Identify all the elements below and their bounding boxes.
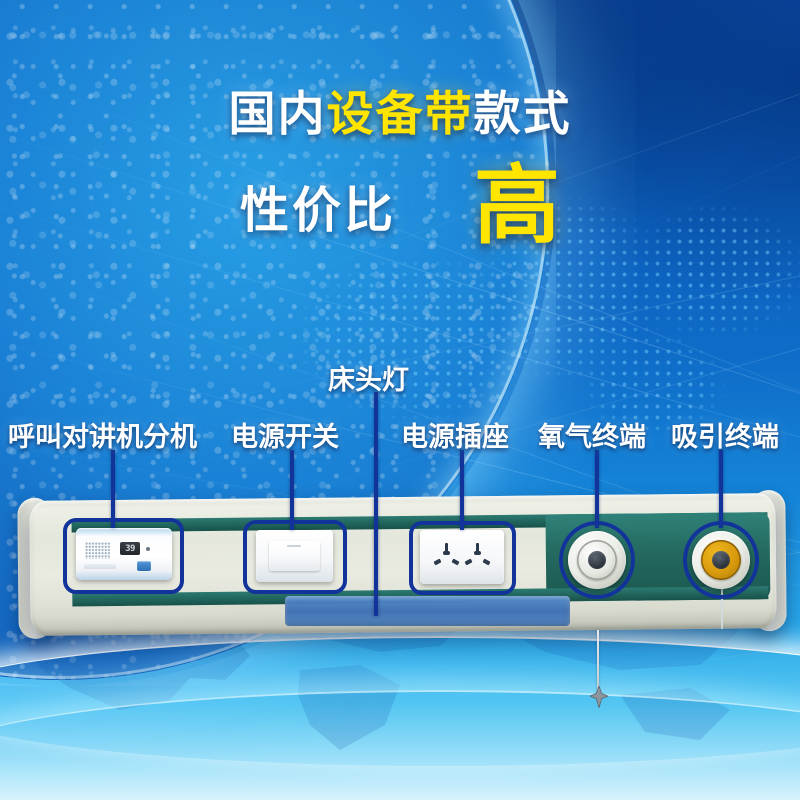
intercom-call-button[interactable]	[137, 561, 151, 571]
suction-terminal-port[interactable]	[692, 531, 750, 589]
promo-banner: 国内设备带款式 性价比 高 床头灯 呼叫对讲机分机 电源开关 电源插座 氧气终端…	[0, 0, 800, 800]
power-switch-plate[interactable]	[256, 530, 333, 582]
headline-block: 国内设备带款式 性价比 高	[0, 88, 800, 140]
glow-swoosh-lower	[0, 690, 800, 800]
callout-label-intercom: 呼叫对讲机分机	[8, 415, 197, 454]
leader-line-oxygen-terminal	[595, 450, 599, 528]
callout-label-power-socket: 电源插座	[401, 415, 509, 454]
rocker-switch[interactable]	[269, 541, 320, 571]
pull-cord-string[interactable]	[597, 630, 599, 692]
callout-label-oxygen-terminal: 氧气终端	[538, 415, 646, 454]
oxygen-core	[588, 551, 606, 569]
callout-label-suction-terminal: 吸引终端	[671, 415, 779, 454]
socket-outlet-right[interactable]	[463, 543, 493, 571]
leader-line-intercom	[111, 450, 115, 528]
headline-seg-style: 款式	[474, 87, 572, 140]
leader-line-bedlamp	[374, 392, 378, 616]
glow-swoosh-upper	[0, 636, 800, 766]
intercom-unit[interactable]: 39	[76, 528, 172, 580]
leader-line-power-socket	[460, 450, 464, 530]
intercom-display: 39	[120, 542, 140, 555]
leader-line-suction-terminal	[719, 450, 723, 528]
leader-line-power-switch	[290, 450, 294, 530]
headline-price-ratio: 性价比	[240, 171, 396, 242]
speaker-grille-icon	[85, 542, 110, 559]
power-socket-plate[interactable]	[420, 530, 504, 584]
socket-outlet-left[interactable]	[432, 543, 462, 571]
headline-line-1: 国内设备带款式	[0, 88, 800, 140]
suction-core	[712, 551, 730, 569]
headline-line-2: 性价比 高	[0, 166, 800, 248]
headline-seg-equipment-belt: 设备带	[327, 87, 474, 140]
callout-label-bedlamp: 床头灯	[328, 358, 409, 397]
headline-seg-domestic: 国内	[229, 87, 327, 140]
bed-lamp-diffuser[interactable]	[285, 596, 570, 626]
intercom-label-strip	[84, 564, 116, 569]
suction-hanging-wire	[721, 585, 723, 629]
oxygen-terminal-port[interactable]	[568, 531, 626, 589]
pull-cord-connector-icon[interactable]	[590, 686, 608, 708]
status-led-icon	[146, 547, 150, 551]
headline-high: 高	[474, 166, 560, 248]
callout-label-power-switch: 电源开关	[231, 415, 339, 454]
